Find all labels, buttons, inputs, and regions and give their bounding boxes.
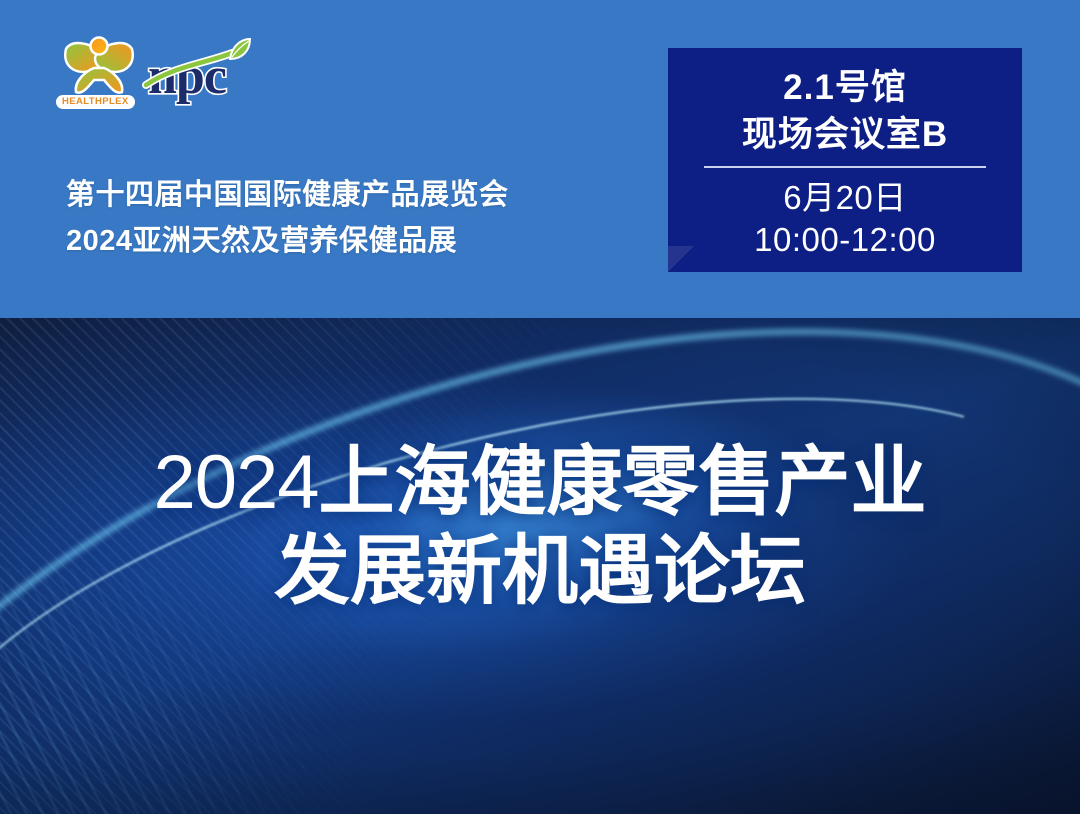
exhibition-name-line-2: 2024亚洲天然及营养保健品展 bbox=[66, 218, 509, 264]
healthplex-wordmark: HEALTHPLEX bbox=[56, 95, 135, 109]
healthplex-figure-icon bbox=[60, 35, 138, 97]
headline-line-2: 发展新机遇论坛 bbox=[0, 526, 1080, 618]
exhibition-name-line-1: 第十四届中国国际健康产品展览会 bbox=[66, 172, 509, 218]
venue-room: 现场会议室B bbox=[686, 111, 1004, 158]
healthplex-logo: HEALTHPLEX bbox=[52, 33, 144, 117]
headline-line-1: 2024上海健康零售产业 bbox=[0, 440, 1080, 526]
info-divider bbox=[704, 166, 986, 168]
info-box-corner-fold bbox=[668, 246, 694, 272]
headline-line-1-text: 上海健康零售产业 bbox=[319, 440, 927, 525]
exhibition-names: 第十四届中国国际健康产品展览会 2024亚洲天然及营养保健品展 bbox=[66, 172, 509, 264]
poster-body: 2024上海健康零售产业 发展新机遇论坛 主办单位：上海医药商业行业协会、上海博… bbox=[0, 318, 1080, 814]
logo-row: HEALTHPLEX npc bbox=[52, 33, 282, 117]
poster-header: HEALTHPLEX npc 第十四届中国国际健康产品展览会 2024亚洲天然及… bbox=[0, 0, 1080, 318]
event-info-box: 2.1号馆 现场会议室B 6月20日 10:00-12:00 bbox=[668, 48, 1022, 272]
npc-wordmark-icon: npc bbox=[140, 37, 258, 111]
event-date: 6月20日 bbox=[686, 177, 1004, 219]
npc-logo: npc bbox=[140, 37, 258, 111]
poster-headline: 2024上海健康零售产业 发展新机遇论坛 bbox=[0, 440, 1080, 618]
venue-hall: 2.1号馆 bbox=[686, 64, 1004, 111]
headline-year: 2024 bbox=[153, 440, 318, 525]
event-poster: HEALTHPLEX npc 第十四届中国国际健康产品展览会 2024亚洲天然及… bbox=[0, 0, 1080, 814]
event-time: 10:00-12:00 bbox=[686, 219, 1004, 261]
